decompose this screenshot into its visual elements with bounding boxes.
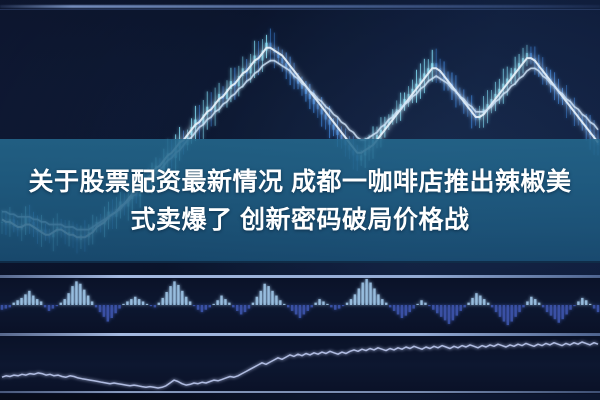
macd-panel-top-rule xyxy=(0,275,600,278)
headline-line-2: 式卖爆了 创新密码破局价格战 xyxy=(131,201,470,239)
sub-panel-bottom-rule xyxy=(0,391,600,393)
headline-line-1: 关于股票配资最新情况 成都一咖啡店推出辣椒美 xyxy=(29,163,572,201)
headline-overlay-band: 关于股票配资最新情况 成都一咖啡店推出辣椒美 式卖爆了 创新密码破局价格战 xyxy=(0,139,600,263)
macd-histogram-series xyxy=(1,279,600,325)
chart-banner-stage: 关于股票配资最新情况 成都一咖啡店推出辣椒美 式卖爆了 创新密码破局价格战 xyxy=(0,0,600,400)
sub-indicator-line-series xyxy=(2,342,598,388)
macd-panel-bottom-rule xyxy=(0,333,600,336)
